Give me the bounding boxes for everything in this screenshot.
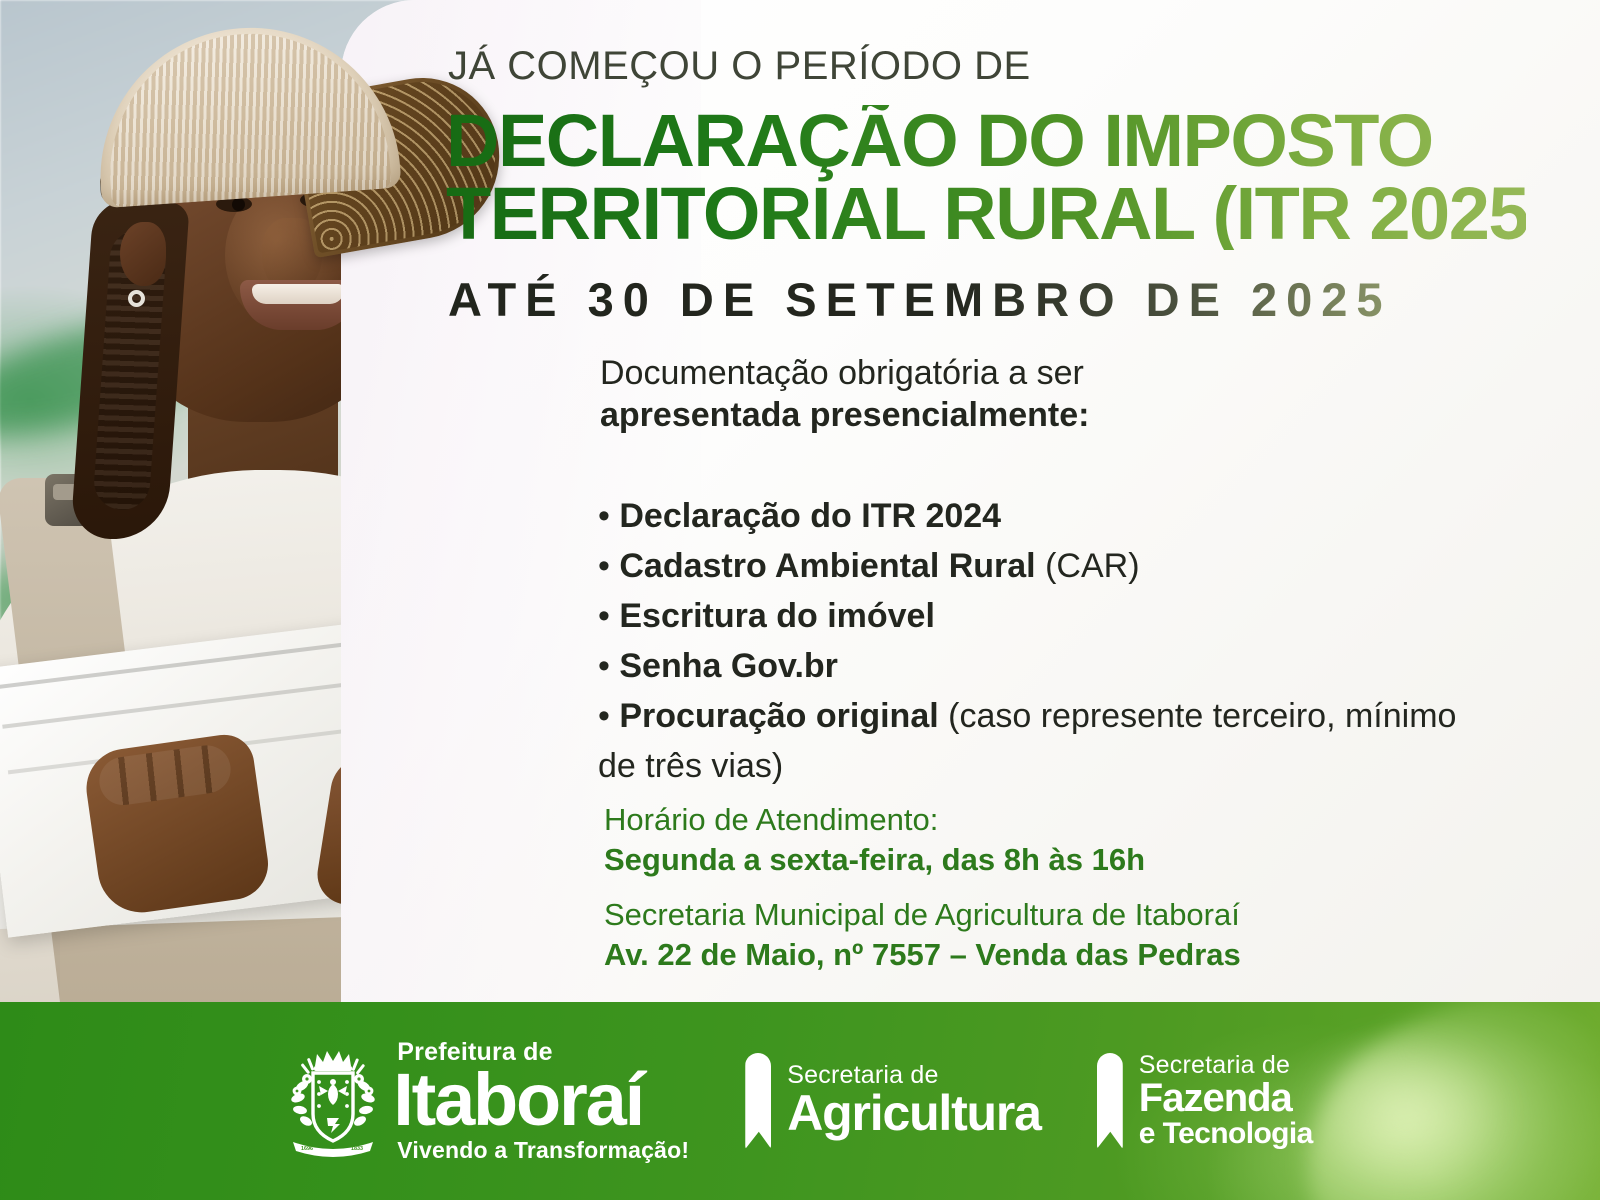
headline: DECLARAÇÃO DO IMPOSTO TERRITORIAL RURAL … <box>446 105 1526 250</box>
secretariat-finance-text: Secretaria de Fazenda e Tecnologia <box>1139 1053 1313 1150</box>
intro-paragraph: Documentação obrigatória a ser apresenta… <box>600 352 1450 436</box>
logo-row: 1696 1833 ITABORAÍ Prefeitura de Itabora… <box>0 1002 1600 1200</box>
secretariat-logo-agriculture: Secretaria de Agricultura <box>745 1053 1041 1149</box>
list-item-bold: Escritura do imóvel <box>619 597 935 635</box>
headline-line-1: DECLARAÇÃO DO IMPOSTO <box>446 105 1526 178</box>
document-list: • Declaração do ITR 2024 • Cadastro Ambi… <box>598 492 1498 792</box>
city-logo: Prefeitura de Itaboraí Vivendo a Transfo… <box>393 1040 689 1162</box>
headline-line-2: TERRITORIAL RURAL (ITR 2025) <box>446 178 1526 251</box>
schedule-label: Horário de Atendimento: <box>604 800 1504 840</box>
svg-text:1696: 1696 <box>301 1146 313 1152</box>
city-logo-name: Itaboraí <box>393 1063 689 1137</box>
list-item-bold: Senha Gov.br <box>619 647 838 685</box>
bullet-marker: • <box>598 547 610 585</box>
list-item-bold: Declaração do ITR 2024 <box>619 497 1001 535</box>
bookmark-bar-icon <box>1097 1053 1123 1149</box>
secretariat-name: Fazenda <box>1139 1078 1313 1119</box>
intro-line-1: Documentação obrigatória a ser <box>600 352 1450 394</box>
bookmark-bar-icon <box>745 1053 771 1149</box>
svg-text:1833: 1833 <box>351 1146 363 1152</box>
poster-root: JÁ COMEÇOU O PERÍODO DE DECLARAÇÃO DO IM… <box>0 0 1600 1200</box>
svg-text:ITABORAÍ: ITABORAÍ <box>321 1150 345 1158</box>
list-item: • Senha Gov.br <box>598 642 1498 692</box>
secretariat-logo-finance: Secretaria de Fazenda e Tecnologia <box>1097 1053 1313 1150</box>
list-item-bold: Cadastro Ambiental Rural <box>619 547 1035 585</box>
secretariat-name-2: e Tecnologia <box>1139 1119 1313 1150</box>
bullet-marker: • <box>598 697 610 735</box>
city-logo-slogan: Vivendo a Transformação! <box>397 1139 689 1162</box>
list-item: • Cadastro Ambiental Rural (CAR) <box>598 542 1498 592</box>
list-item-regular: (CAR) <box>1036 547 1140 585</box>
bullet-marker: • <box>598 497 610 535</box>
office-address: Av. 22 de Maio, nº 7557 – Venda das Pedr… <box>604 935 1504 975</box>
intro-line-2: apresentada presencialmente: <box>600 394 1450 436</box>
secretariat-label: Secretaria de <box>1139 1053 1313 1079</box>
eyebrow-text: JÁ COMEÇOU O PERÍODO DE <box>448 44 1031 89</box>
list-item-bold: Procuração original <box>619 697 938 735</box>
footer-bar: 1696 1833 ITABORAÍ Prefeitura de Itabora… <box>0 1002 1600 1200</box>
coat-of-arms-icon: 1696 1833 ITABORAÍ <box>287 1042 379 1160</box>
office-name: Secretaria Municipal de Agricultura de I… <box>604 895 1504 935</box>
spacer <box>604 881 1504 895</box>
service-info-block: Horário de Atendimento: Segunda a sexta-… <box>604 800 1504 975</box>
poster-content: JÁ COMEÇOU O PERÍODO DE DECLARAÇÃO DO IM… <box>0 0 1600 1005</box>
secretariat-agriculture-text: Secretaria de Agricultura <box>787 1063 1041 1140</box>
secretariat-name: Agricultura <box>787 1088 1041 1139</box>
list-item: • Declaração do ITR 2024 <box>598 492 1498 542</box>
deadline-text: ATÉ 30 DE SETEMBRO DE 2025 <box>448 272 1548 327</box>
bullet-marker: • <box>598 647 610 685</box>
list-item: • Procuração original (caso represente t… <box>598 692 1498 792</box>
bullet-marker: • <box>598 597 610 635</box>
schedule-value: Segunda a sexta-feira, das 8h às 16h <box>604 840 1504 880</box>
list-item: • Escritura do imóvel <box>598 592 1498 642</box>
